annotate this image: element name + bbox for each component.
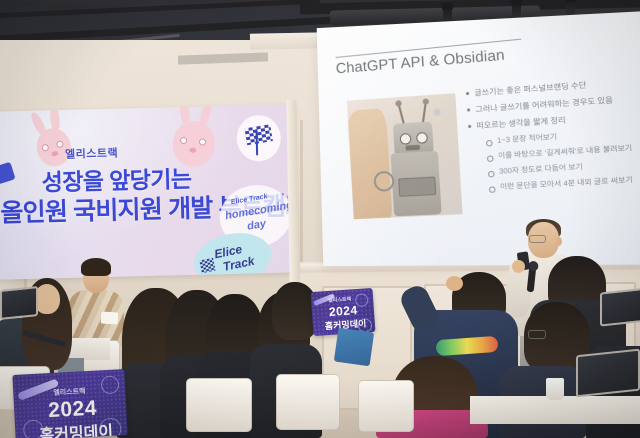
attendee-hair	[81, 258, 111, 276]
chair	[358, 380, 414, 432]
placard-circle	[99, 417, 122, 438]
cup	[546, 378, 564, 400]
name-sticker	[101, 312, 119, 325]
placard: 엘리스트랙 2024 홈커밍데이	[12, 369, 127, 438]
laptop-screen	[576, 349, 640, 398]
placard-circle	[23, 419, 44, 438]
placard-secondary	[334, 328, 374, 367]
attendee-hand	[446, 276, 463, 291]
laptop-screen	[600, 287, 640, 326]
chair	[186, 378, 252, 432]
presentation-photo: 엘리스트랙 성장을 앞당기는 올인원 국비지원 개발 부트캠프 Elice Tr…	[0, 0, 640, 438]
glasses-icon	[528, 330, 546, 339]
table	[470, 396, 640, 424]
chair	[276, 374, 340, 430]
placard-brand: 엘리스트랙	[53, 386, 86, 398]
audience: 엘리스트랙 2024 홈커밍데이 엘리스트랙 2024 홈커밍데이	[0, 0, 640, 438]
laptop-screen	[0, 286, 38, 320]
